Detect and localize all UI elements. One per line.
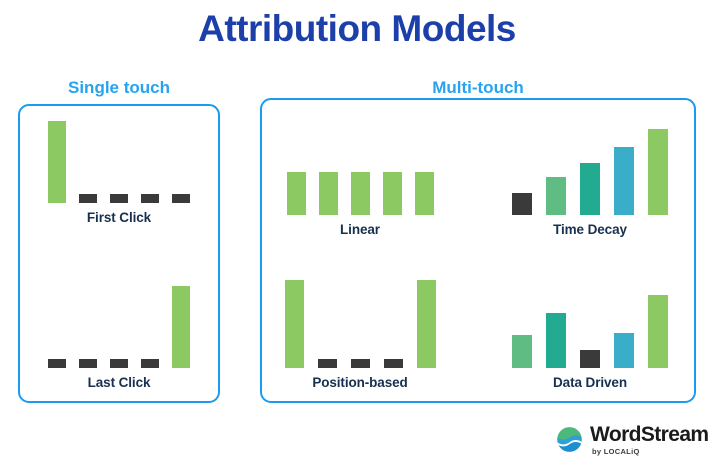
bar-first-click-3 [110, 194, 128, 203]
chart-first-click: First Click [28, 110, 210, 225]
bar-linear-3 [351, 172, 370, 215]
wordstream-logo: WordStream by LOCALiQ [556, 424, 708, 456]
wordstream-wave-icon [556, 426, 583, 453]
bar-data-driven-5 [648, 295, 668, 368]
bar-time-decay-4 [614, 147, 634, 215]
chart-plot-area [28, 286, 210, 368]
page-title: Attribution Models [0, 8, 714, 50]
bar-last-click-1 [48, 359, 66, 368]
bar-position-based-2 [318, 359, 337, 368]
bar-last-click-2 [79, 359, 97, 368]
bar-time-decay-1 [512, 193, 532, 215]
bar-linear-2 [319, 172, 338, 215]
bar-linear-4 [383, 172, 402, 215]
chart-last-click: Last Click [28, 275, 210, 390]
bar-last-click-5 [172, 286, 190, 368]
logo-subtitle: by LOCALiQ [592, 448, 708, 456]
bar-time-decay-2 [546, 177, 566, 215]
chart-plot-area [28, 121, 210, 203]
bar-time-decay-5 [648, 129, 668, 215]
bar-first-click-5 [172, 194, 190, 203]
chart-position-based: Position-based [270, 270, 450, 390]
chart-title-linear: Linear [270, 222, 450, 237]
chart-title-time-decay: Time Decay [500, 222, 680, 237]
bar-data-driven-1 [512, 335, 532, 368]
section-heading-multi-touch: Multi-touch [260, 78, 696, 98]
bar-time-decay-3 [580, 163, 600, 215]
chart-data-driven: Data Driven [500, 280, 680, 390]
bar-linear-5 [415, 172, 434, 215]
bar-first-click-2 [79, 194, 97, 203]
bar-position-based-4 [384, 359, 403, 368]
bar-last-click-4 [141, 359, 159, 368]
logo-name: WordStream [590, 424, 708, 445]
bar-first-click-1 [48, 121, 66, 203]
bar-position-based-1 [285, 280, 304, 368]
chart-plot-area [270, 172, 450, 215]
chart-title-last-click: Last Click [28, 375, 210, 390]
bar-linear-1 [287, 172, 306, 215]
chart-title-data-driven: Data Driven [500, 375, 680, 390]
bar-position-based-5 [417, 280, 436, 368]
chart-plot-area [270, 280, 450, 368]
chart-plot-area [500, 129, 680, 215]
chart-title-position-based: Position-based [270, 375, 450, 390]
bar-data-driven-3 [580, 350, 600, 368]
logo-text: WordStream by LOCALiQ [590, 424, 708, 456]
bar-first-click-4 [141, 194, 159, 203]
chart-title-first-click: First Click [28, 210, 210, 225]
chart-plot-area [500, 295, 680, 368]
chart-linear: Linear [270, 150, 450, 237]
bar-last-click-3 [110, 359, 128, 368]
bar-data-driven-4 [614, 333, 634, 368]
chart-time-decay: Time Decay [500, 110, 680, 237]
bar-data-driven-2 [546, 313, 566, 368]
section-heading-single-touch: Single touch [18, 78, 220, 98]
bar-position-based-3 [351, 359, 370, 368]
